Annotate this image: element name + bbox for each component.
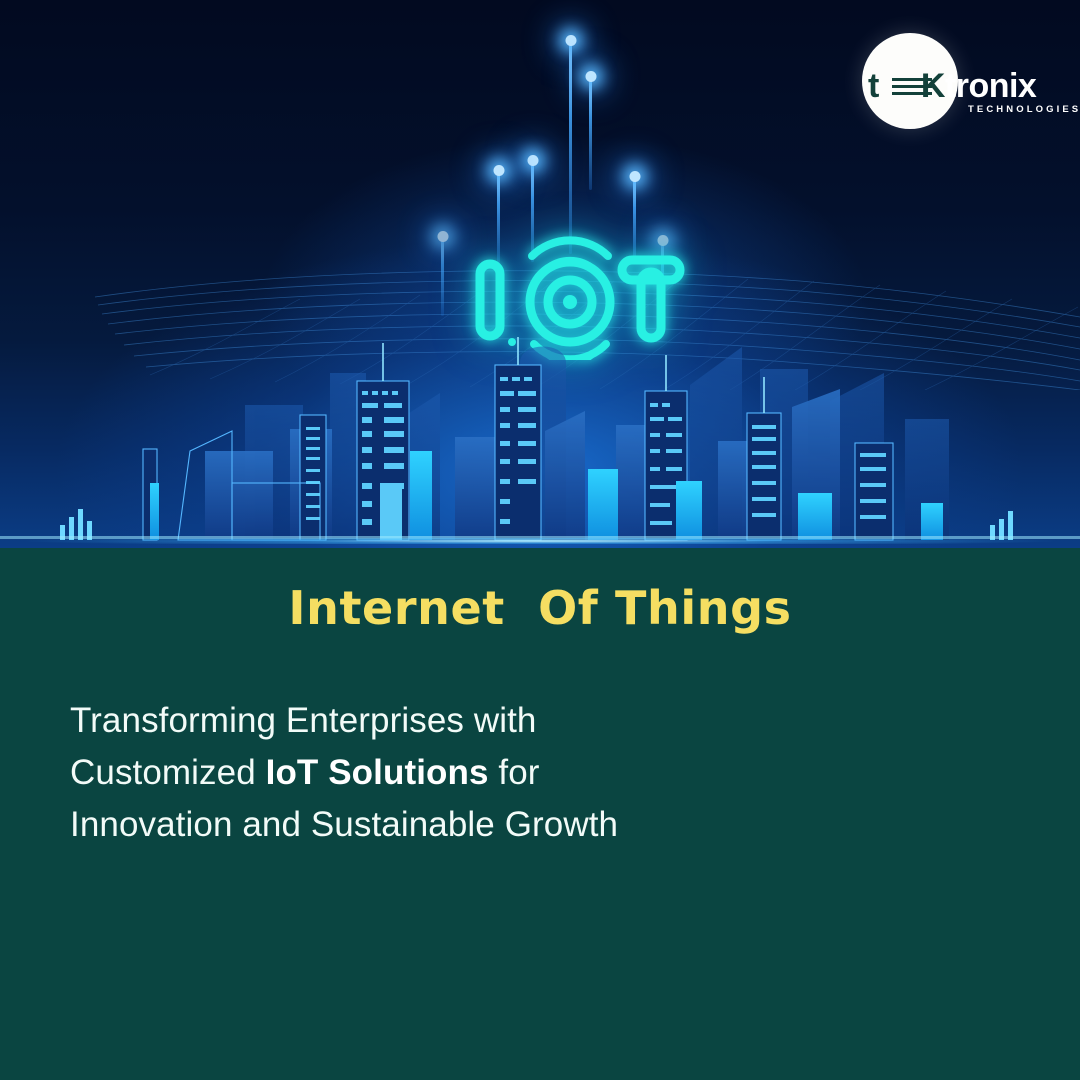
- logo-t: t: [868, 67, 879, 105]
- social-media-poster: tKtronix TECHNOLOGIES Internet Of Things…: [0, 0, 1080, 1080]
- brand-logo[interactable]: tKtronix TECHNOLOGIES: [862, 30, 1058, 134]
- logo-subtitle: TECHNOLOGIES: [968, 104, 1080, 115]
- hero-image: tKtronix TECHNOLOGIES: [0, 0, 1080, 548]
- subtitle-highlight: IoT Solutions: [266, 753, 489, 792]
- ground-glow: [0, 538, 1080, 544]
- smart-city-skyline-icon: [0, 333, 1080, 548]
- logo-e-bars-icon: [892, 78, 932, 96]
- page-subtitle: Transforming Enterprises with Customized…: [70, 695, 690, 851]
- content-section: Internet Of Things Transforming Enterpri…: [0, 548, 1080, 1080]
- logo-tronix: tronix: [945, 67, 1036, 105]
- page-title: Internet Of Things: [0, 581, 1080, 635]
